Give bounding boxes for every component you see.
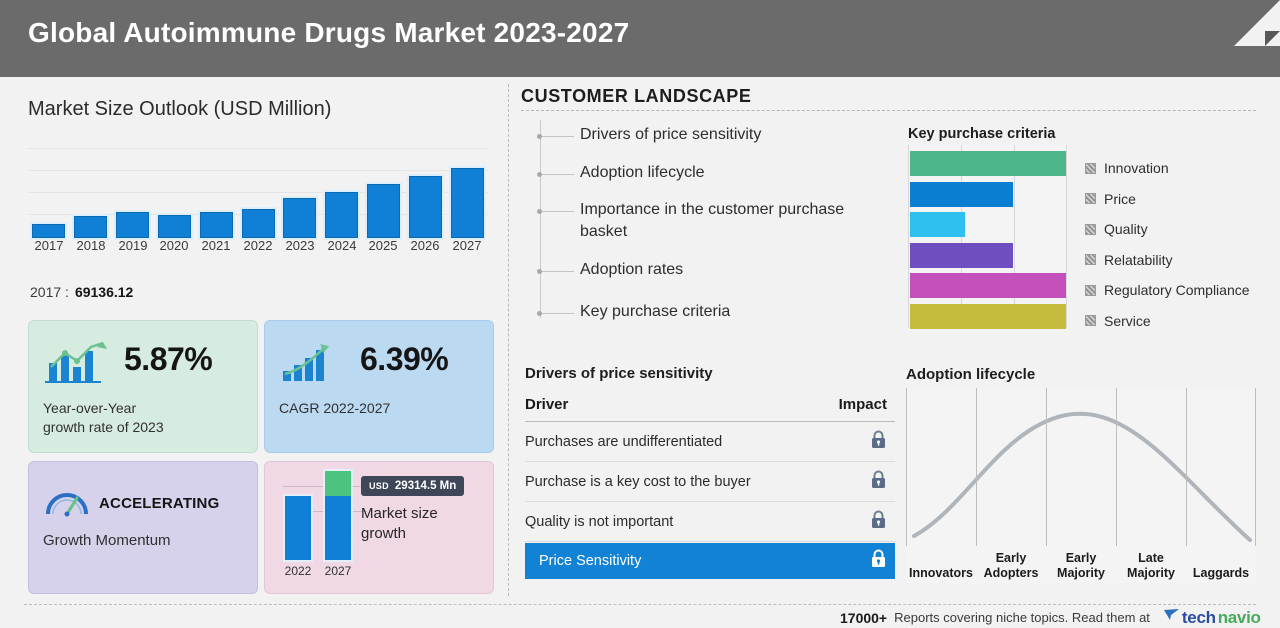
mini-axis-2027: 2027 bbox=[318, 564, 358, 578]
adoption-lifecycle-gridline bbox=[1046, 388, 1047, 546]
kpc-bar-relatability[interactable] bbox=[910, 243, 1013, 268]
kpc-legend-label: Quality bbox=[1104, 221, 1148, 237]
lock-icon bbox=[870, 510, 887, 534]
drivers-col-driver: Driver bbox=[525, 396, 568, 413]
bar-2025[interactable] bbox=[367, 184, 400, 238]
bar-label-2018: 2018 bbox=[69, 238, 113, 253]
bar-label-2022: 2022 bbox=[236, 238, 280, 253]
driver-name: Purchase is a key cost to the buyer bbox=[525, 474, 751, 490]
bar-2023[interactable] bbox=[283, 198, 316, 238]
kpi-caption-yoy: Year-over-Year growth rate of 2023 bbox=[43, 399, 164, 437]
chart-gridline bbox=[28, 170, 488, 171]
segment-label-line1: Early bbox=[976, 551, 1046, 566]
kpc-bar-price[interactable] bbox=[910, 182, 1013, 207]
bar-label-2020: 2020 bbox=[152, 238, 196, 253]
kpi-value-yoy: 5.87% bbox=[124, 341, 212, 378]
adoption-lifecycle-gridline bbox=[1116, 388, 1117, 546]
driver-name: Purchases are undifferentiated bbox=[525, 434, 722, 450]
kpc-legend-item-0[interactable]: Innovation bbox=[1085, 153, 1250, 184]
drivers-table: Driver Impact Purchases are undifferenti… bbox=[525, 396, 895, 579]
adoption-lifecycle-segment-2: EarlyMajority bbox=[1046, 551, 1116, 581]
kpc-bar-innovation[interactable] bbox=[910, 151, 1066, 176]
connector-line bbox=[542, 313, 574, 314]
lock-icon bbox=[870, 470, 887, 494]
value-amount: 69136.12 bbox=[75, 284, 133, 300]
drivers-table-row[interactable]: Price Sensitivity bbox=[525, 543, 895, 579]
usd-value-badge: USD 29314.5 Mn bbox=[361, 476, 464, 496]
bar-label-2023: 2023 bbox=[278, 238, 322, 253]
kpc-legend-item-3[interactable]: Relatability bbox=[1085, 245, 1250, 276]
connector-line bbox=[542, 271, 574, 272]
key-purchase-criteria-legend: InnovationPriceQualityRelatabilityRegula… bbox=[1085, 153, 1250, 336]
segment-label-line2: Adopters bbox=[976, 566, 1046, 581]
bar-2024[interactable] bbox=[325, 192, 358, 238]
connector-line bbox=[542, 136, 574, 137]
bar-column bbox=[409, 176, 442, 238]
driver-name: Quality is not important bbox=[525, 514, 673, 530]
growth-momentum-row: ACCELERATING bbox=[43, 484, 219, 523]
customer-landscape-item-label: Adoption rates bbox=[580, 259, 860, 281]
bar-label-2019: 2019 bbox=[111, 238, 155, 253]
bar-2026[interactable] bbox=[409, 176, 442, 238]
technavio-logo[interactable]: technavio bbox=[1163, 607, 1261, 628]
vertical-divider bbox=[508, 84, 509, 596]
key-purchase-criteria-title: Key purchase criteria bbox=[908, 126, 1056, 142]
segment-label-line1: Early bbox=[1046, 551, 1116, 566]
customer-landscape-item-label: Drivers of price sensitivity bbox=[580, 124, 860, 146]
adoption-lifecycle-title: Adoption lifecycle bbox=[906, 366, 1035, 383]
bar-label-2021: 2021 bbox=[194, 238, 238, 253]
bar-2018[interactable] bbox=[74, 216, 107, 238]
kpc-legend-label: Regulatory Compliance bbox=[1104, 282, 1250, 298]
customer-landscape-spine bbox=[540, 120, 541, 318]
legend-swatch-icon bbox=[1085, 285, 1096, 296]
bar-column bbox=[158, 215, 191, 238]
kpc-gridline bbox=[1066, 145, 1067, 328]
kpc-legend-label: Innovation bbox=[1104, 160, 1169, 176]
market-size-growth-mini-chart: 2022 2027 bbox=[279, 478, 367, 578]
kpi-caption-cagr: CAGR 2022-2027 bbox=[279, 399, 390, 418]
kpi-card-growth-momentum[interactable]: ACCELERATING Growth Momentum bbox=[28, 461, 258, 594]
segment-label-line2: Majority bbox=[1046, 566, 1116, 581]
technavio-mark-icon bbox=[1163, 607, 1180, 628]
adoption-lifecycle-gridline bbox=[1255, 388, 1256, 546]
page-header: Global Autoimmune Drugs Market 2023-2027 bbox=[0, 0, 1280, 77]
kpi-caption-yoy-line2: growth rate of 2023 bbox=[43, 418, 164, 437]
legend-swatch-icon bbox=[1085, 163, 1096, 174]
segment-label-line1: Innovators bbox=[906, 566, 976, 581]
customer-landscape-item-label: Key purchase criteria bbox=[580, 301, 860, 323]
adoption-lifecycle-gridline bbox=[1186, 388, 1187, 546]
market-size-outlook-title: Market Size Outlook (USD Million) bbox=[28, 98, 331, 121]
bar-label-2026: 2026 bbox=[403, 238, 447, 253]
kpc-bar-service[interactable] bbox=[910, 304, 1066, 329]
segment-label-line1: Late bbox=[1116, 551, 1186, 566]
drivers-col-impact: Impact bbox=[839, 396, 887, 413]
bar-column bbox=[451, 168, 484, 238]
kpi-value-cagr: 6.39% bbox=[360, 341, 448, 378]
customer-landscape-item-label: Importance in the customer purchase bask… bbox=[580, 199, 860, 243]
bar-column bbox=[32, 224, 65, 238]
page-title: Global Autoimmune Drugs Market 2023-2027 bbox=[28, 17, 629, 49]
adoption-lifecycle-segment-3: LateMajority bbox=[1116, 551, 1186, 581]
connector-line bbox=[542, 174, 574, 175]
kpi-card-cagr[interactable]: 6.39% CAGR 2022-2027 bbox=[264, 320, 494, 453]
market-size-growth-caption-line1: Market size bbox=[361, 504, 438, 524]
kpc-legend-item-5[interactable]: Service bbox=[1085, 306, 1250, 337]
kpi-caption-cagr-line1: CAGR 2022-2027 bbox=[279, 399, 390, 418]
growth-momentum-value: ACCELERATING bbox=[99, 495, 219, 512]
value-year-label: 2017 : bbox=[30, 284, 69, 300]
mini-axis-2022: 2022 bbox=[278, 564, 318, 578]
adoption-lifecycle-segment-4: Laggards bbox=[1186, 566, 1256, 581]
mini-bar-2022 bbox=[285, 496, 311, 560]
usd-currency-label: USD bbox=[369, 481, 389, 491]
bar-label-2025: 2025 bbox=[361, 238, 405, 253]
drivers-table-header: Driver Impact bbox=[525, 396, 895, 422]
technavio-brand-part1: tech bbox=[1182, 608, 1216, 628]
footer-report-count: 17000+ bbox=[840, 610, 887, 626]
bar-line-chart-icon bbox=[45, 341, 111, 383]
adoption-lifecycle-gridline bbox=[906, 388, 907, 546]
footer: 17000+ Reports covering niche topics. Re… bbox=[840, 607, 1261, 628]
bar-column bbox=[200, 212, 233, 238]
market-size-bar-chart-axis: 2017201820192020202120222023202420252026… bbox=[28, 238, 488, 258]
growth-momentum-caption: Growth Momentum bbox=[43, 532, 171, 549]
legend-swatch-icon bbox=[1085, 224, 1096, 235]
drivers-table-body: Purchases are undifferentiatedPurchase i… bbox=[525, 422, 895, 579]
bar-column bbox=[325, 192, 358, 238]
adoption-lifecycle-gridline bbox=[976, 388, 977, 546]
bar-2020[interactable] bbox=[158, 215, 191, 238]
footer-text: Reports covering niche topics. Read them… bbox=[894, 610, 1150, 625]
connector-line bbox=[542, 211, 574, 212]
kpc-legend-label: Service bbox=[1104, 313, 1151, 329]
drivers-table-row[interactable]: Purchase is a key cost to the buyer bbox=[525, 462, 895, 502]
kpc-bar-regulatory-compliance[interactable] bbox=[910, 273, 1066, 298]
legend-swatch-icon bbox=[1085, 315, 1096, 326]
customer-landscape-underline bbox=[521, 110, 1256, 111]
bar-label-2024: 2024 bbox=[320, 238, 364, 253]
chart-gridline bbox=[28, 148, 488, 149]
speedometer-icon bbox=[43, 484, 91, 523]
driver-name: Price Sensitivity bbox=[539, 553, 641, 569]
adoption-lifecycle-segment-1: EarlyAdopters bbox=[976, 551, 1046, 581]
segment-label-line1: Laggards bbox=[1186, 566, 1256, 581]
corner-fold-decoration bbox=[1234, 0, 1280, 46]
kpi-card-yoy-growth[interactable]: 5.87% Year-over-Year growth rate of 2023 bbox=[28, 320, 258, 453]
adoption-lifecycle-segment-0: Innovators bbox=[906, 566, 976, 581]
kpi-caption-yoy-line1: Year-over-Year bbox=[43, 399, 164, 418]
growth-chart-icon bbox=[281, 341, 347, 383]
bar-2019[interactable] bbox=[116, 212, 149, 238]
market-size-growth-caption: Market size growth bbox=[361, 504, 438, 544]
kpc-legend-label: Price bbox=[1104, 191, 1136, 207]
mini-bar-2027 bbox=[325, 471, 351, 560]
lock-icon bbox=[870, 430, 887, 454]
usd-value: 29314.5 Mn bbox=[395, 480, 456, 492]
market-size-growth-caption-line2: growth bbox=[361, 524, 438, 544]
market-size-bar-chart bbox=[28, 148, 488, 238]
legend-swatch-icon bbox=[1085, 193, 1096, 204]
lock-icon bbox=[870, 549, 887, 573]
adoption-lifecycle-chart: InnovatorsEarlyAdoptersEarlyMajorityLate… bbox=[906, 388, 1256, 583]
kpc-gridline bbox=[908, 145, 909, 328]
bar-column bbox=[242, 209, 275, 238]
bar-2021[interactable] bbox=[200, 212, 233, 238]
bar-column bbox=[283, 198, 316, 238]
market-size-value-annotation: 2017 :69136.12 bbox=[30, 284, 133, 300]
bar-column bbox=[74, 216, 107, 238]
kpc-legend-item-1[interactable]: Price bbox=[1085, 184, 1250, 215]
drivers-table-row[interactable]: Quality is not important bbox=[525, 502, 895, 542]
segment-label-line2: Majority bbox=[1116, 566, 1186, 581]
infographic-page: Global Autoimmune Drugs Market 2023-2027… bbox=[0, 0, 1280, 624]
key-purchase-criteria-plot bbox=[908, 145, 1068, 328]
drivers-table-row[interactable]: Purchases are undifferentiated bbox=[525, 422, 895, 462]
kpc-legend-item-4[interactable]: Regulatory Compliance bbox=[1085, 275, 1250, 306]
kpc-legend-item-2[interactable]: Quality bbox=[1085, 214, 1250, 245]
legend-swatch-icon bbox=[1085, 254, 1096, 265]
bar-2017[interactable] bbox=[32, 224, 65, 238]
technavio-brand-part2: navio bbox=[1218, 608, 1261, 628]
kpi-card-market-size-growth[interactable]: 2022 2027 USD 29314.5 Mn Market size gro… bbox=[264, 461, 494, 594]
bar-column bbox=[367, 184, 400, 238]
customer-landscape-item-label: Adoption lifecycle bbox=[580, 162, 860, 184]
kpc-bar-quality[interactable] bbox=[910, 212, 965, 237]
bar-2022[interactable] bbox=[242, 209, 275, 238]
customer-landscape-title: CUSTOMER LANDSCAPE bbox=[521, 86, 751, 107]
bar-label-2017: 2017 bbox=[27, 238, 71, 253]
footer-divider bbox=[24, 604, 1256, 605]
key-purchase-criteria-chart bbox=[908, 145, 1068, 328]
bar-2027[interactable] bbox=[451, 168, 484, 238]
kpc-legend-label: Relatability bbox=[1104, 252, 1172, 268]
bar-column bbox=[116, 212, 149, 238]
bar-label-2027: 2027 bbox=[445, 238, 489, 253]
drivers-table-title: Drivers of price sensitivity bbox=[525, 365, 713, 382]
